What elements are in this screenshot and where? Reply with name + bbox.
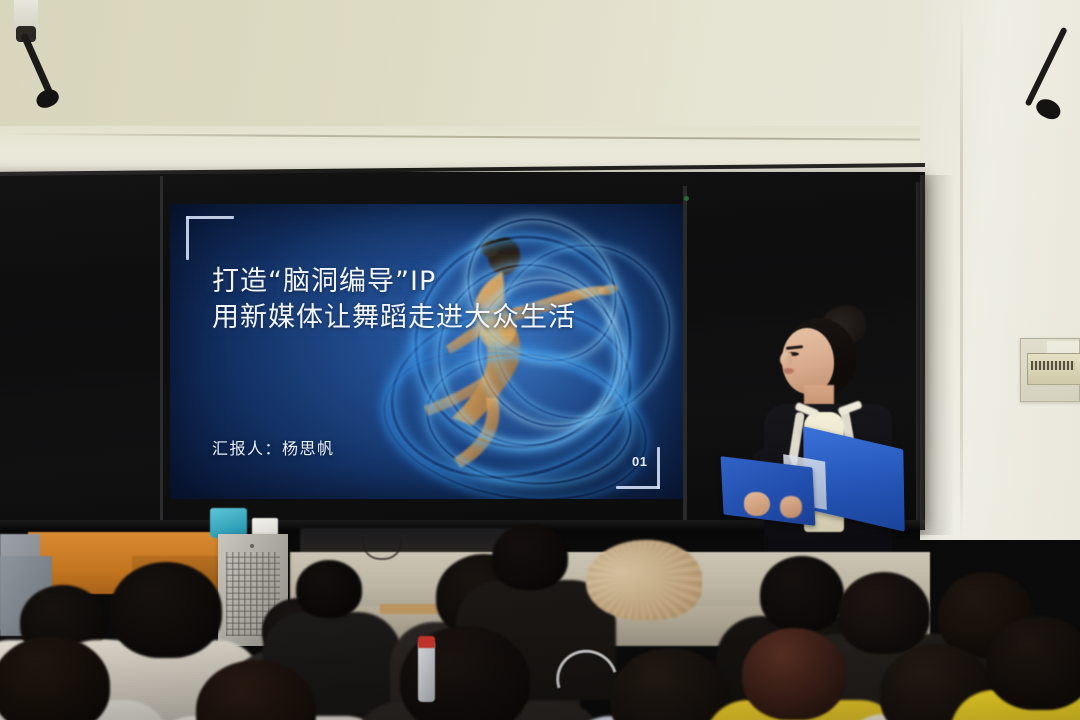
speaker-led-icon xyxy=(250,544,254,548)
slide-title-line-1: 打造“脑洞编导”IP xyxy=(212,266,436,297)
audience-person-head xyxy=(610,648,730,720)
presentation-slide[interactable]: 打造“脑洞编导”IP 用新媒体让舞蹈走进大众生活 汇报人：杨思帆 01 xyxy=(170,204,683,499)
slide-title: 打造“脑洞编导”IP 用新媒体让舞蹈走进大众生活 xyxy=(212,264,642,335)
slide-number: 01 xyxy=(632,454,647,469)
wall-shadow xyxy=(920,175,954,535)
board-panel-seam xyxy=(683,186,687,524)
bottle-cap xyxy=(418,636,435,648)
right-wall-seam xyxy=(960,0,963,540)
upper-wall xyxy=(0,0,1080,128)
presenter-hand xyxy=(780,496,802,518)
presenter-hand xyxy=(744,492,770,516)
wall-electrical-panel xyxy=(1020,338,1080,402)
bracket-corner-icon xyxy=(186,216,234,260)
audience-person-head xyxy=(986,616,1080,710)
audience-person-head xyxy=(110,562,222,658)
audience-person-head xyxy=(742,628,846,720)
track-light-icon xyxy=(0,0,70,115)
slide-presenter-label: 汇报人：杨思帆 xyxy=(212,435,335,459)
water-bottle xyxy=(418,640,435,702)
board-panel-seam xyxy=(160,176,163,524)
blue-folder-cover xyxy=(721,456,816,526)
presenter-lips xyxy=(783,368,794,374)
fur-hood-texture xyxy=(586,540,702,620)
slide-title-line-2: 用新媒体让舞蹈走进大众生活 xyxy=(212,300,642,336)
audience-person-head xyxy=(492,524,568,590)
audience-person-head xyxy=(296,560,362,618)
status-led-icon xyxy=(684,196,689,201)
audience-person-head xyxy=(760,556,844,632)
track-light-icon xyxy=(1020,40,1080,170)
classroom-presentation-scene: 打造“脑洞编导”IP 用新媒体让舞蹈走进大众生活 汇报人：杨思帆 01 xyxy=(0,0,1080,720)
presenter-nose xyxy=(780,352,792,366)
audience-person-head xyxy=(838,572,930,654)
